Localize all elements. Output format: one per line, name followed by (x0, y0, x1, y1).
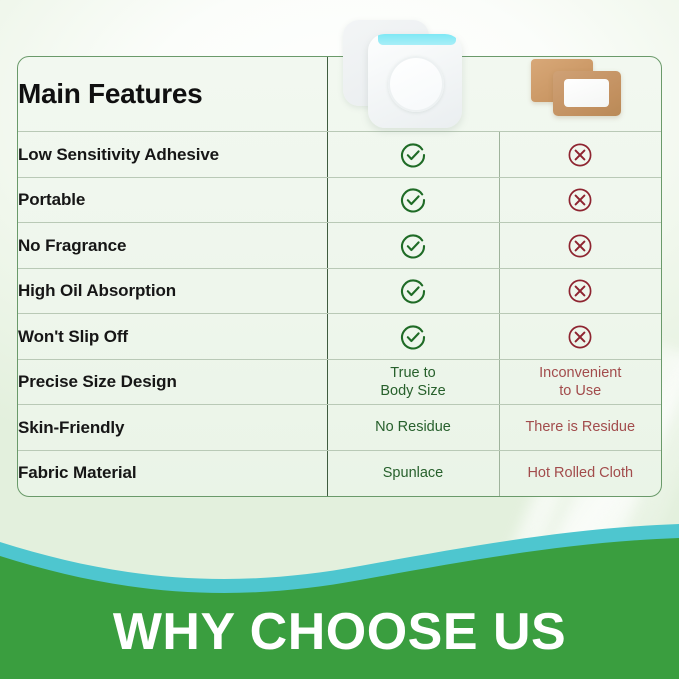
white-patch-cyan-strip (378, 34, 456, 45)
feature-label: High Oil Absorption (18, 268, 327, 314)
value-bad: Inconvenientto Use (499, 359, 661, 405)
table-row: No Fragrance (18, 223, 661, 269)
brown-bandage-white-pad (564, 79, 609, 107)
brown-bandage-front-layer (553, 71, 621, 116)
table-row: Precise Size Design True toBody Size Inc… (18, 359, 661, 405)
value-good: Spunlace (327, 450, 499, 496)
table-row: Portable (18, 177, 661, 223)
value-bad: Hot Rolled Cloth (499, 450, 661, 496)
table-row: Won't Slip Off (18, 314, 661, 360)
page-title: Main Features (18, 57, 327, 132)
value-bad: There is Residue (499, 405, 661, 451)
comparison-table: Main Features Low Sensitivity Adhesive (17, 56, 662, 497)
table-row: High Oil Absorption (18, 268, 661, 314)
feature-label: Portable (18, 177, 327, 223)
value-good (327, 132, 499, 178)
check-icon (400, 187, 426, 213)
feature-label: Fabric Material (18, 450, 327, 496)
cross-icon (567, 278, 593, 304)
check-icon (400, 278, 426, 304)
cross-icon (567, 324, 593, 350)
value-bad (499, 314, 661, 360)
table-row: Low Sensitivity Adhesive (18, 132, 661, 178)
value-bad (499, 268, 661, 314)
feature-label: Won't Slip Off (18, 314, 327, 360)
white-patch-front-layer (368, 34, 462, 128)
value-bad (499, 177, 661, 223)
value-good: No Residue (327, 405, 499, 451)
value-bad (499, 132, 661, 178)
value-good (327, 314, 499, 360)
cross-icon (567, 233, 593, 259)
feature-label: Low Sensitivity Adhesive (18, 132, 327, 178)
poster-root: Main Features Low Sensitivity Adhesive (0, 0, 679, 679)
value-good (327, 268, 499, 314)
cross-icon (567, 187, 593, 213)
white-patch-circle-pad (388, 56, 444, 112)
value-good (327, 177, 499, 223)
value-good (327, 223, 499, 269)
feature-label: Precise Size Design (18, 359, 327, 405)
banner-title: WHY CHOOSE US (0, 602, 679, 662)
cross-icon (567, 142, 593, 168)
product-image-white-patch (343, 20, 465, 130)
value-bad (499, 223, 661, 269)
bottom-banner: WHY CHOOSE US (0, 494, 679, 679)
check-icon (400, 142, 426, 168)
product-image-brown-bandage (531, 59, 623, 117)
table-row: Fabric Material Spunlace Hot Rolled Clot… (18, 450, 661, 496)
feature-label: No Fragrance (18, 223, 327, 269)
check-icon (400, 324, 426, 350)
table-row: Skin-Friendly No Residue There is Residu… (18, 405, 661, 451)
value-good: True toBody Size (327, 359, 499, 405)
feature-label: Skin-Friendly (18, 405, 327, 451)
check-icon (400, 233, 426, 259)
